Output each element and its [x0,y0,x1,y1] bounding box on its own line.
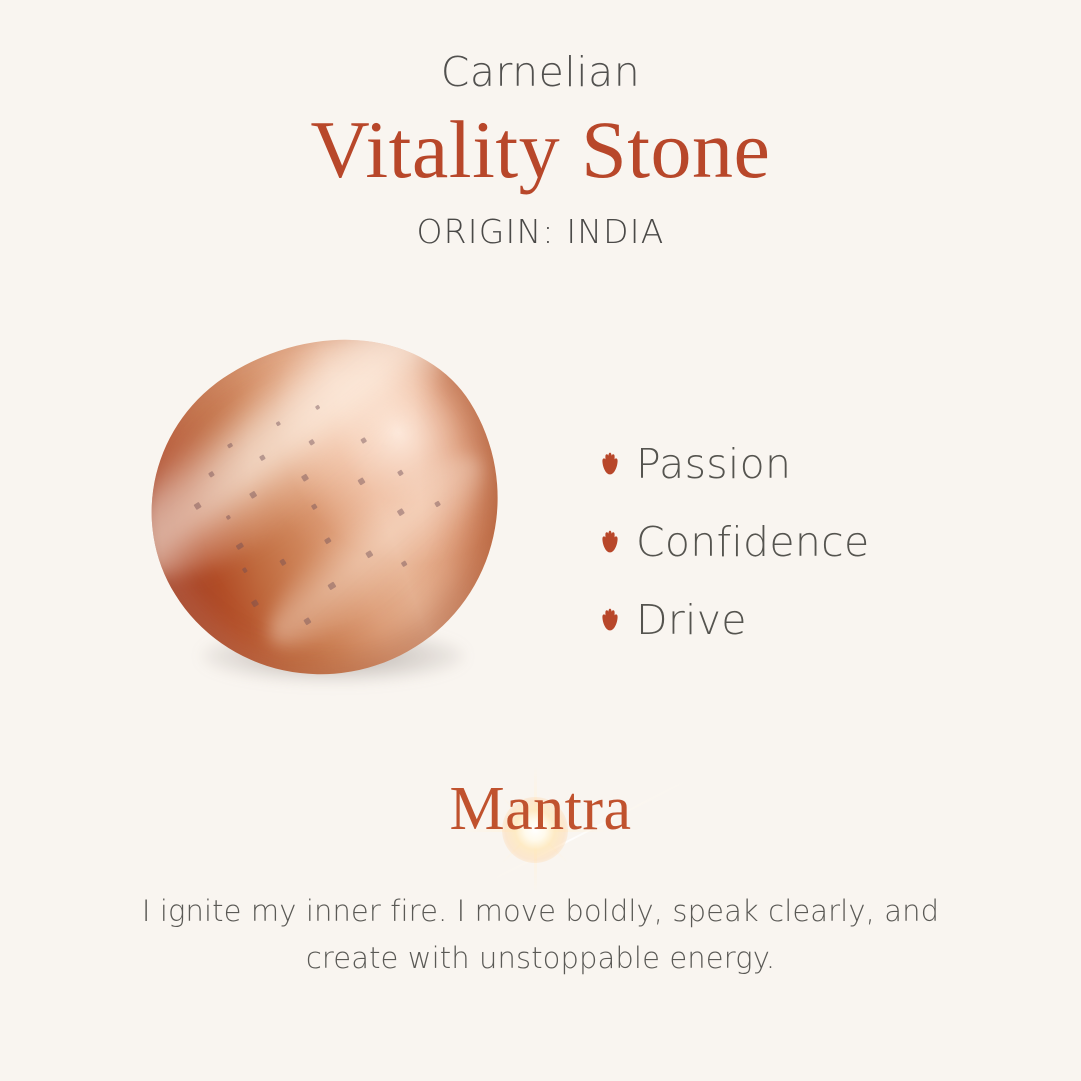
list-item: Passion [600,442,1020,486]
page-title: Vitality Stone [0,107,1081,193]
properties-list: Passion Confidence Drive [600,442,1020,642]
hamsa-bullet-icon [600,607,620,633]
origin-label: ORIGIN: INDIA [0,215,1081,248]
list-item: Drive [600,598,1020,642]
stone-surface [91,274,564,740]
mantra-heading: Mantra [0,778,1081,840]
property-label-drive: Drive [636,600,747,641]
mantra-section: Mantra I ignite my inner fire. I move bo… [0,778,1081,982]
card-header: Carnelian Vitality Stone ORIGIN: INDIA [0,52,1081,248]
hamsa-bullet-icon [600,529,620,555]
property-label-confidence: Confidence [636,522,870,563]
property-label-passion: Passion [636,444,791,485]
carnelian-gemstone-icon [91,274,564,740]
mantra-text: I ignite my inner fire. I move boldly, s… [101,888,981,982]
list-item: Confidence [600,520,1020,564]
gemstone-illustration [130,330,530,710]
hamsa-bullet-icon [600,451,620,477]
illustration-and-properties: Passion Confidence Drive [0,330,1081,730]
gemstone-card: Carnelian Vitality Stone ORIGIN: INDIA [0,0,1081,1081]
stone-name: Carnelian [0,52,1081,93]
stone-rim-shading [91,274,564,740]
